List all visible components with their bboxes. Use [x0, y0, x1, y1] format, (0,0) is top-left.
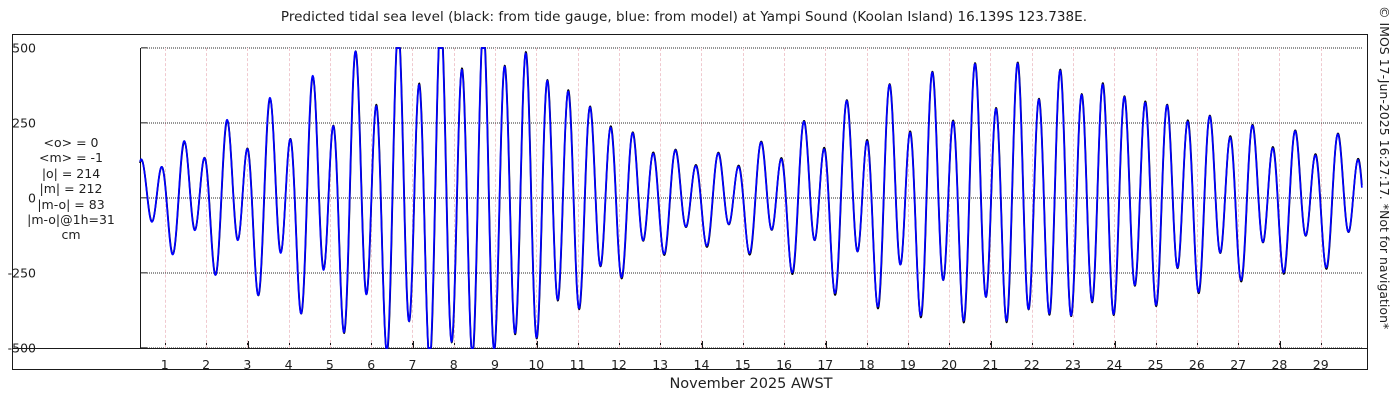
x-axis-tick-label: 15 — [735, 357, 751, 372]
x-axis-tick-label: 7 — [408, 357, 416, 372]
x-axis-tick-label: 5 — [326, 357, 334, 372]
stat-mean-observed: <o> = 0 — [8, 135, 134, 150]
stat-rms-difference-1h: |m-o|@1h=31 — [8, 212, 134, 227]
x-axis-tick-label: 24 — [1106, 357, 1122, 372]
x-axis-label: November 2025 AWST — [140, 376, 1362, 392]
y-axis-tick-label: 500 — [12, 41, 36, 56]
plot-area — [140, 48, 1362, 348]
x-axis-tick-label: 23 — [1065, 357, 1081, 372]
x-axis-tick-label: 2 — [202, 357, 210, 372]
x-axis-tick-label: 25 — [1148, 357, 1164, 372]
x-axis-line — [12, 348, 1368, 349]
x-axis-tick-label: 19 — [900, 357, 916, 372]
x-axis-tick-label: 1 — [161, 357, 169, 372]
copyright-notice: © IMOS 17-Jun-2025 16:27:17. *Not for na… — [1370, 6, 1392, 406]
x-axis-tick-label: 16 — [776, 357, 792, 372]
x-axis-tick-label: 17 — [817, 357, 833, 372]
x-axis-tick-label: 20 — [941, 357, 957, 372]
x-axis-tick-label: 28 — [1271, 357, 1287, 372]
x-axis-tick-label: 14 — [694, 357, 710, 372]
x-axis-tick-label: 11 — [570, 357, 586, 372]
x-axis-tick-label: 18 — [859, 357, 875, 372]
statistics-annotation: <o> = 0 <m> = -1 |o| = 214 |m| = 212 |m-… — [8, 135, 134, 243]
x-axis-tick-label: 12 — [611, 357, 627, 372]
x-axis-tick-label: 13 — [652, 357, 668, 372]
x-axis-tick-label: 27 — [1230, 357, 1246, 372]
x-axis-tick-label: 4 — [285, 357, 293, 372]
x-axis-tick-label: 10 — [528, 357, 544, 372]
x-axis-tick-label: 26 — [1189, 357, 1205, 372]
x-axis-tick-label: 8 — [450, 357, 458, 372]
stat-mean-model: <m> = -1 — [8, 150, 134, 165]
stat-rms-model: |m| = 212 — [8, 181, 134, 196]
stat-rms-difference: |m-o| = 83 — [8, 197, 134, 212]
stat-units: cm — [8, 227, 134, 242]
y-axis-tick-label: 250 — [12, 116, 36, 131]
x-axis-tick-label: 6 — [367, 357, 375, 372]
series-model — [140, 48, 1362, 348]
x-axis-tick-label: 3 — [243, 357, 251, 372]
y-axis-tick-label: -250 — [8, 266, 36, 281]
x-axis-tick-label: 9 — [491, 357, 499, 372]
x-axis-tick-label: 29 — [1313, 357, 1329, 372]
x-axis-tick-label: 21 — [982, 357, 998, 372]
stat-rms-observed: |o| = 214 — [8, 166, 134, 181]
page-title: Predicted tidal sea level (black: from t… — [0, 9, 1368, 25]
x-axis-tick-label: 22 — [1024, 357, 1040, 372]
